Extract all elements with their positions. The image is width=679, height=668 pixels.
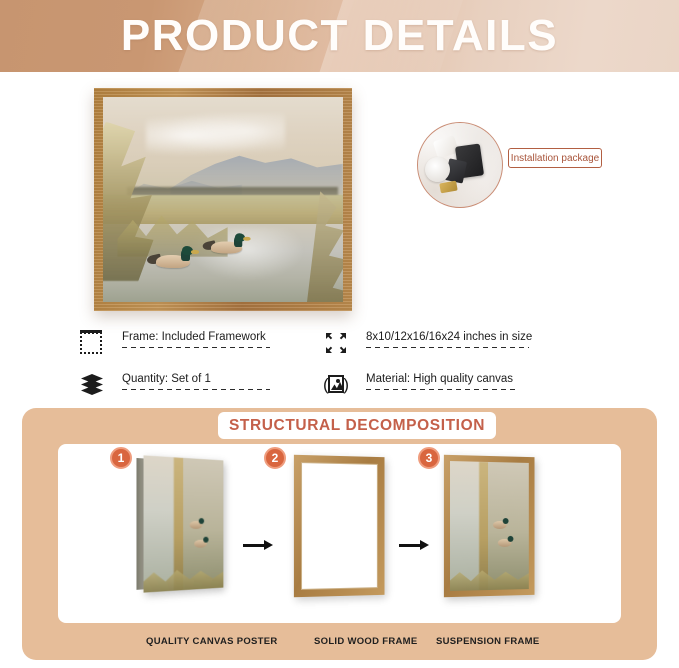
painting-clouds — [146, 113, 285, 158]
step-1-quality-canvas-poster: 1 — [110, 444, 270, 623]
resize-icon — [322, 330, 350, 356]
canvas-poster-visual — [144, 455, 224, 592]
step-arrow-2-to-3 — [399, 540, 429, 550]
feature-row-size: 8x10/12x16/16x24 inches in size — [322, 330, 532, 356]
feature-label: Frame: Included Framework — [122, 330, 270, 344]
step-label-2: SOLID WOOD FRAME — [314, 636, 418, 647]
wood-frame-visual — [294, 455, 385, 597]
decomposition-card: 1 2 — [58, 444, 621, 623]
feature-row-quantity: Quantity: Set of 1 — [78, 372, 270, 398]
feature-text-wrap: Material: High quality canvas — [366, 372, 518, 390]
feature-text-wrap: 8x10/12x16/16x24 inches in size — [366, 330, 532, 348]
product-details-infographic: PRODUCT DETAILS — [0, 0, 679, 668]
step-3-suspension-frame: 3 — [418, 444, 588, 623]
hero-framed-artwork — [94, 88, 352, 311]
frame-icon — [78, 330, 106, 356]
installation-package-label: Installation package — [508, 148, 602, 168]
feature-label: 8x10/12x16/16x24 inches in size — [366, 330, 532, 344]
feature-text-wrap: Frame: Included Framework — [122, 330, 270, 348]
step-badge: 2 — [264, 447, 286, 469]
feature-underline — [122, 389, 270, 390]
feature-row-material: ( ) Material: High quality canvas — [322, 372, 518, 398]
finished-framed-art-visual — [444, 455, 535, 597]
installation-hardware-photo — [417, 122, 503, 208]
step-2-solid-wood-frame: 2 — [264, 444, 424, 623]
page-title: PRODUCT DETAILS — [0, 0, 679, 72]
step-label-row: QUALITY CANVAS POSTER SOLID WOOD FRAME S… — [22, 636, 657, 654]
feature-text-wrap: Quantity: Set of 1 — [122, 372, 270, 390]
layers-icon — [78, 372, 106, 398]
angled-frame-view — [540, 92, 679, 314]
decomposition-title: STRUCTURAL DECOMPOSITION — [218, 412, 496, 439]
feature-label: Quantity: Set of 1 — [122, 372, 270, 386]
feature-list: Frame: Included Framework 8x10/12x16/16x… — [0, 326, 679, 398]
step-label-1: QUALITY CANVAS POSTER — [146, 636, 278, 647]
step-label-3: SUSPENSION FRAME — [436, 636, 540, 647]
hero-painting — [103, 97, 343, 302]
feature-label: Material: High quality canvas — [366, 372, 518, 386]
feature-row-frame: Frame: Included Framework — [78, 330, 270, 356]
step-badge: 3 — [418, 447, 440, 469]
step-badge: 1 — [110, 447, 132, 469]
step-arrow-1-to-2 — [243, 540, 273, 550]
feature-underline — [366, 389, 518, 390]
feature-underline — [366, 347, 529, 348]
feature-underline — [122, 347, 270, 348]
structural-decomposition-panel: STRUCTURAL DECOMPOSITION 1 — [22, 408, 657, 660]
picture-icon: ( ) — [322, 372, 350, 398]
header-banner: PRODUCT DETAILS — [0, 0, 679, 72]
